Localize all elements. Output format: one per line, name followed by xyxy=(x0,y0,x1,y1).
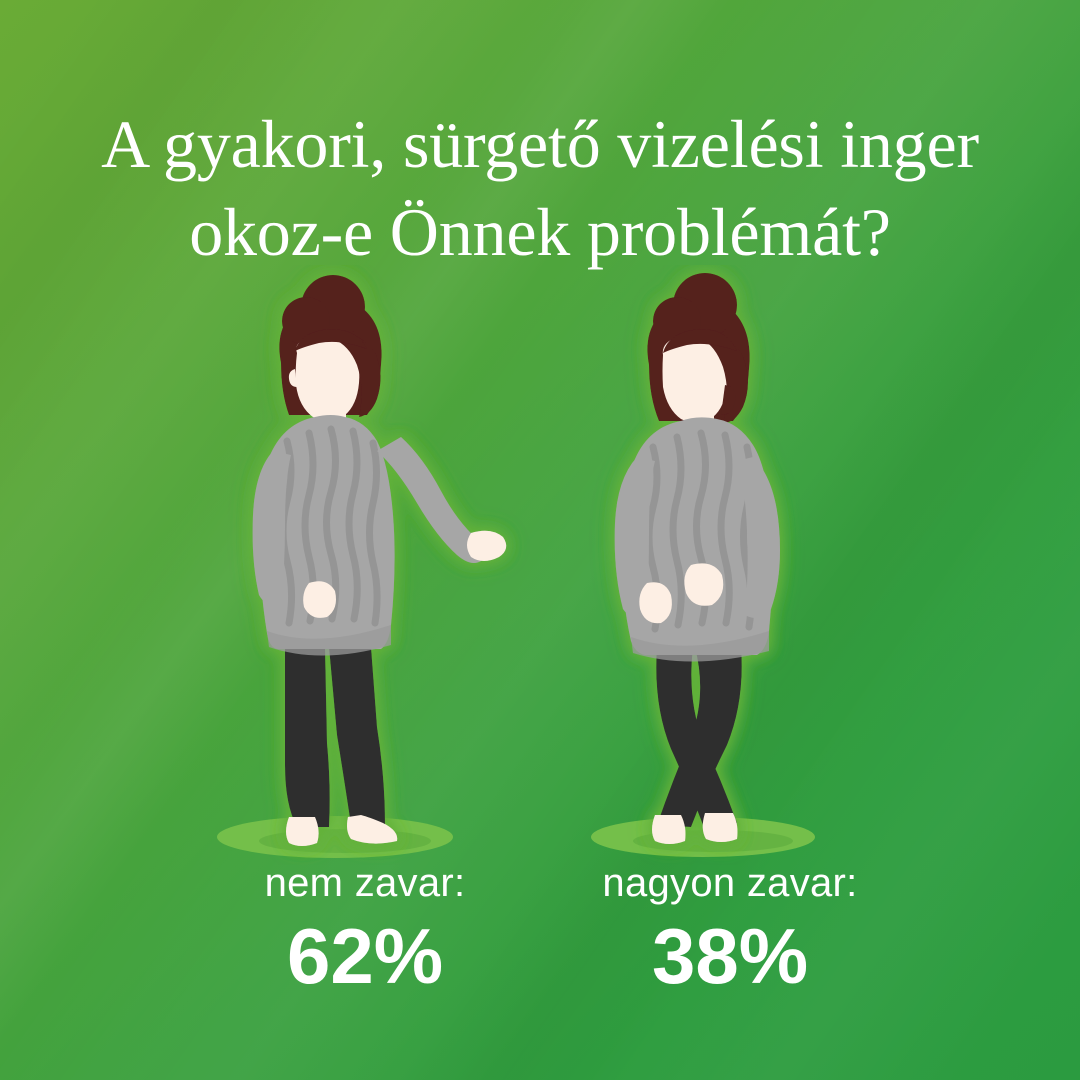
stat-value: 62% xyxy=(165,914,565,998)
figure-body-group xyxy=(253,275,507,846)
ground-shadow-inner xyxy=(259,829,431,853)
infographic-canvas: A gyakori, sürgető vizelési inger okoz-e… xyxy=(0,0,1080,1080)
right-leg xyxy=(329,647,385,825)
left-leg xyxy=(285,647,330,827)
stat-value: 38% xyxy=(530,914,930,998)
legs-crossed-woman-figure xyxy=(545,265,905,865)
left-hand xyxy=(639,582,672,623)
right-foot xyxy=(703,813,738,842)
left-foot xyxy=(286,817,319,846)
left-hand xyxy=(303,581,336,618)
figure-nagyon-zavar xyxy=(545,265,905,865)
right-hand xyxy=(684,563,723,605)
stat-nagyon-zavar: nagyon zavar: 38% xyxy=(530,858,930,998)
figure-nem-zavar xyxy=(185,265,545,865)
figure-body-group xyxy=(615,273,780,844)
left-foot xyxy=(652,815,686,844)
right-hand xyxy=(467,531,506,561)
stat-label: nagyon zavar: xyxy=(530,858,930,908)
relaxed-woman-figure xyxy=(185,265,545,865)
stat-nem-zavar: nem zavar: 62% xyxy=(165,858,565,998)
stat-label: nem zavar: xyxy=(165,858,565,908)
